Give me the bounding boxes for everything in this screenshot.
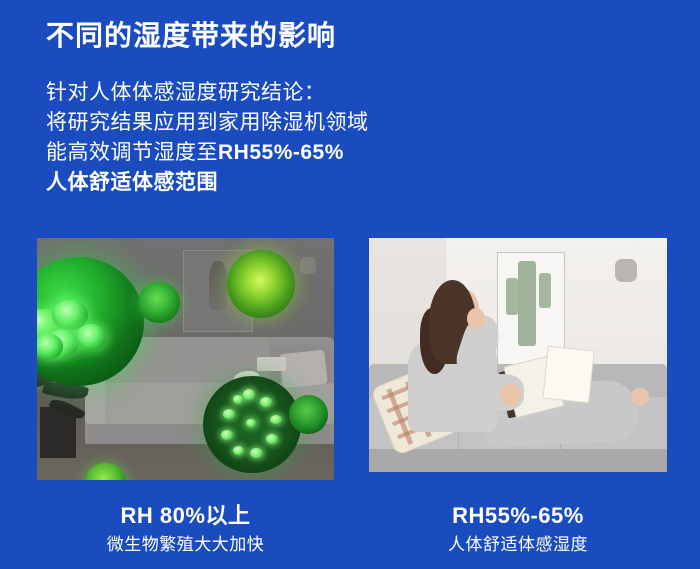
wall-art-plant	[209, 261, 227, 311]
photo-high-humidity	[37, 238, 334, 480]
microbe-right-edge	[289, 395, 328, 434]
book-right-page	[542, 346, 594, 404]
dark-room-scene	[37, 238, 334, 480]
body-line-1: 针对人体体感湿度研究结论：	[46, 78, 369, 108]
body-copy: 针对人体体感湿度研究结论： 将研究结果应用到家用除湿机领域 能高效调节湿度至RH…	[46, 78, 369, 198]
body-line-2: 将研究结果应用到家用除湿机领域	[46, 108, 369, 138]
body-line-3-plain: 能高效调节湿度至	[46, 141, 218, 164]
wall-speaker-icon	[300, 257, 316, 274]
side-table	[257, 357, 287, 372]
caption-title: RH 80%以上	[37, 503, 334, 529]
slide-root: 不同的湿度带来的影响 针对人体体感湿度研究结论： 将研究结果应用到家用除湿机领域…	[0, 0, 700, 569]
caption-subtitle: 微生物繁殖大大加快	[37, 533, 334, 557]
caption-comfort-humidity: RH55%-65% 人体舒适体感湿度	[369, 503, 667, 557]
body-line-3: 能高效调节湿度至RH55%-65%	[46, 138, 369, 168]
foot	[631, 388, 649, 407]
body-line-4: 人体舒适体感范围	[46, 168, 369, 198]
sofa-cushion	[279, 349, 327, 387]
microbe-small-top	[138, 282, 180, 323]
photo-comfort-humidity	[369, 238, 667, 472]
page-title: 不同的湿度带来的影响	[46, 20, 336, 52]
caption-high-humidity: RH 80%以上 微生物繁殖大大加快	[37, 503, 334, 557]
caption-title: RH55%-65%	[369, 503, 667, 529]
microbe-yellow-green	[227, 250, 295, 318]
caption-subtitle: 人体舒适体感湿度	[369, 533, 667, 557]
body-line-3-highlight: RH55%-65%	[218, 141, 344, 164]
microbe-virus-bottom	[203, 376, 301, 473]
bright-room-scene	[369, 238, 667, 472]
woman-reading	[369, 238, 667, 472]
